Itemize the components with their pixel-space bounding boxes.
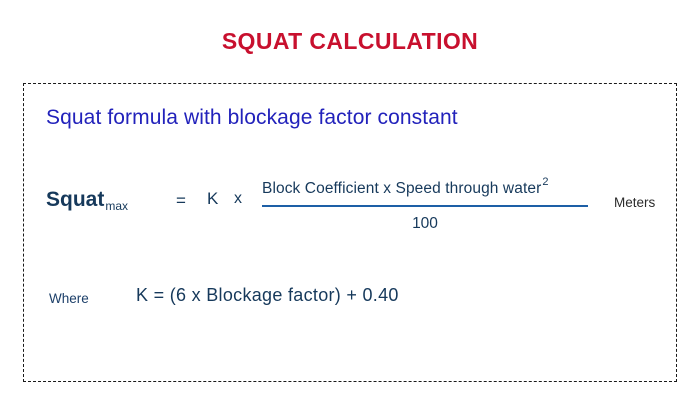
units-label: Meters — [614, 195, 655, 210]
where-label: Where — [49, 291, 89, 306]
multiplication-sign: x — [234, 190, 242, 208]
squat-term: Squat — [46, 188, 104, 211]
equals-sign: = — [176, 191, 186, 211]
page-title: SQUAT CALCULATION — [0, 28, 700, 55]
slide-canvas: SQUAT CALCULATION Squat formula with blo… — [0, 0, 700, 400]
fraction-denominator: 100 — [262, 215, 588, 233]
numerator-text: Block Coefficient x Speed through water — [262, 180, 541, 197]
numerator-exponent: 2 — [542, 176, 548, 188]
k-coefficient-term: K — [207, 189, 218, 209]
fraction-numerator: Block Coefficient x Speed through water2 — [262, 178, 548, 198]
equation-left-hand-side: Squatmax — [46, 188, 127, 212]
squat-subscript-max: max — [105, 199, 128, 213]
where-expression: K = (6 x Blockage factor) + 0.40 — [136, 285, 399, 306]
fraction-bar — [262, 205, 588, 207]
formula-subtitle: Squat formula with blockage factor const… — [46, 106, 458, 130]
